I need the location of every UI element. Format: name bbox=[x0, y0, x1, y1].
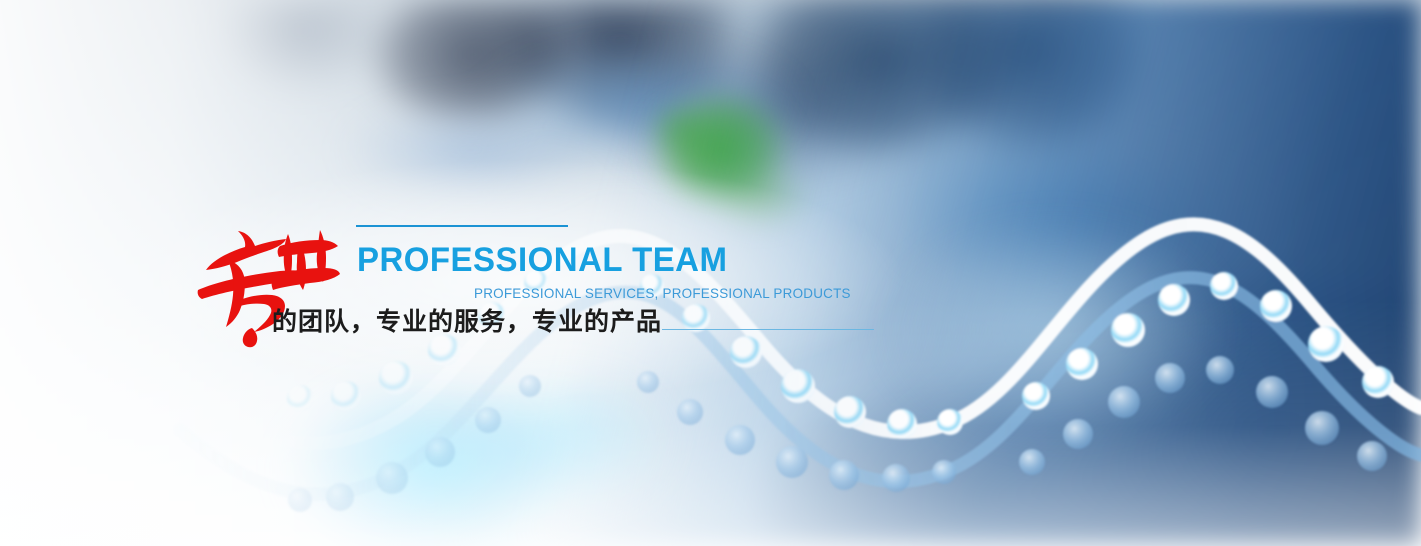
bottom-divider-rule bbox=[662, 329, 874, 330]
top-divider-rule bbox=[356, 225, 568, 227]
professional-team-banner: PROFESSIONAL TEAM PROFESSIONAL SERVICES,… bbox=[0, 0, 1421, 546]
banner-text-block: PROFESSIONAL TEAM PROFESSIONAL SERVICES,… bbox=[0, 0, 1421, 546]
banner-chinese-tagline: 的团队，专业的服务，专业的产品 bbox=[272, 308, 662, 336]
banner-headline: PROFESSIONAL TEAM bbox=[357, 243, 727, 277]
banner-subheadline: PROFESSIONAL SERVICES, PROFESSIONAL PROD… bbox=[474, 286, 851, 300]
